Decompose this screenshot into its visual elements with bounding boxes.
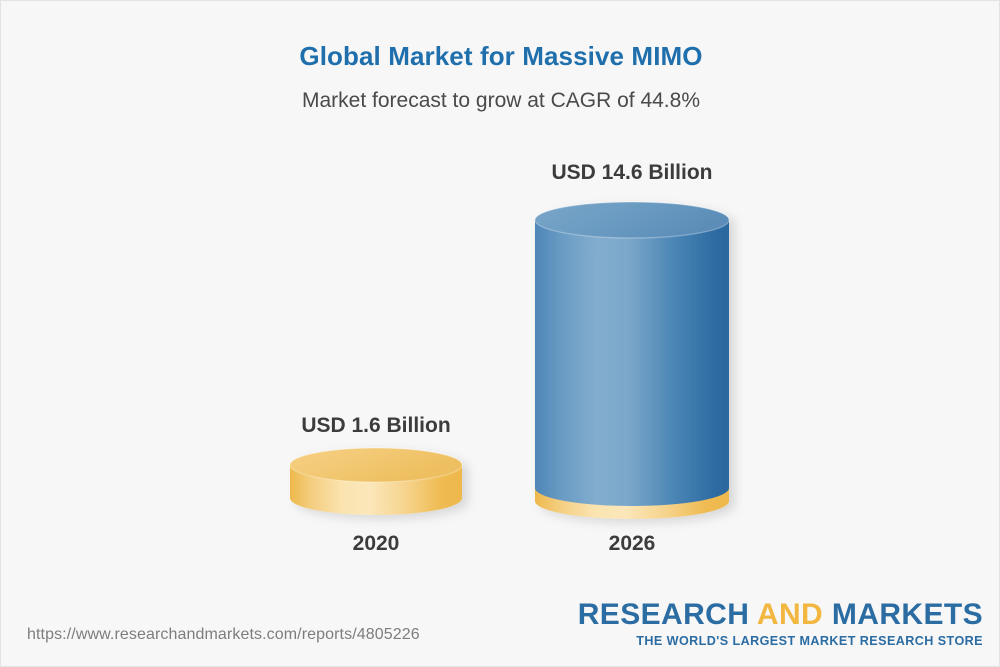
brand-research-text: RESEARCH [578,598,757,631]
source-url[interactable]: https://www.researchandmarkets.com/repor… [27,626,420,644]
brand-wordmark: RESEARCH AND MARKETS [578,600,983,631]
infographic-container: Global Market for Massive MIMO Market fo… [0,0,1000,667]
category-label-2020: 2020 [276,532,476,556]
data-label-2026: USD 14.6 Billion [528,161,736,185]
data-label-2020: USD 1.6 Billion [276,414,476,438]
category-label-2026: 2026 [528,532,736,556]
brand-and-text: AND [757,598,823,631]
brand-markets-text: MARKETS [823,598,983,631]
brand-logo: RESEARCH AND MARKETS THE WORLD'S LARGEST… [578,600,983,648]
bar-2026 [535,202,729,519]
cylinder-bars-graphic [1,1,1000,601]
chart-plot-area: USD 1.6 Billion USD 14.6 Billion 2020 20… [1,1,1000,601]
bar-2020 [290,448,462,515]
brand-tagline: THE WORLD'S LARGEST MARKET RESEARCH STOR… [578,634,983,648]
